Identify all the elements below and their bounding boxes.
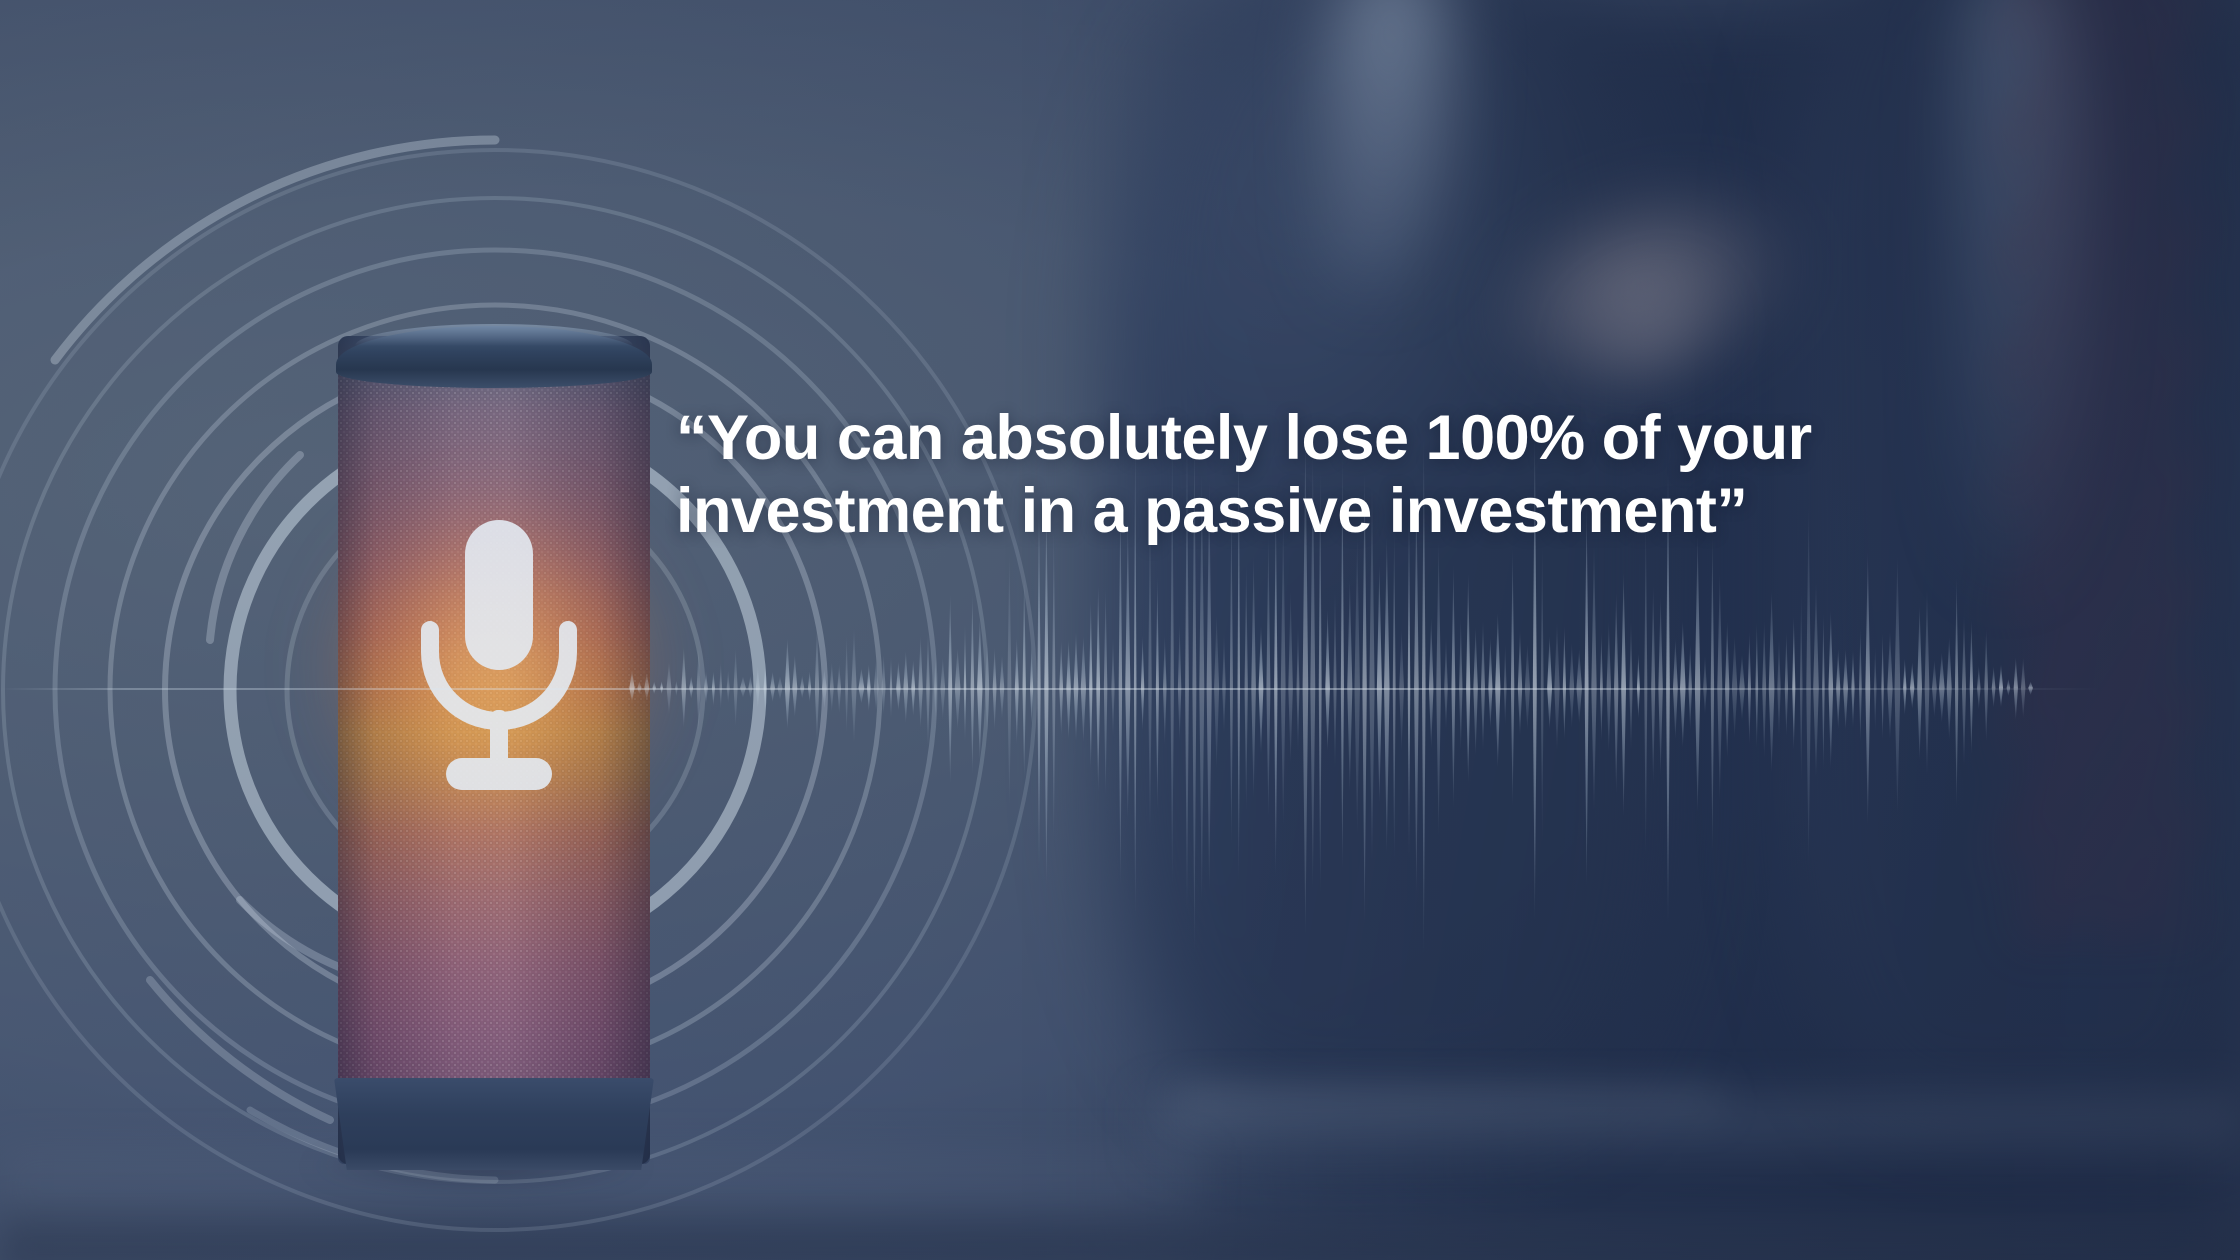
speaker-base xyxy=(334,1078,654,1170)
quote-line-2: investment in a passive investment” xyxy=(676,475,1996,548)
microphone-icon xyxy=(388,520,610,820)
quote-text: “You can absolutely lose 100% of your in… xyxy=(676,402,1996,548)
quote-line-1: “You can absolutely lose 100% of your xyxy=(676,402,1996,475)
quote-slide: “You can absolutely lose 100% of your in… xyxy=(0,0,2240,1260)
speaker-top-cap xyxy=(336,326,652,388)
